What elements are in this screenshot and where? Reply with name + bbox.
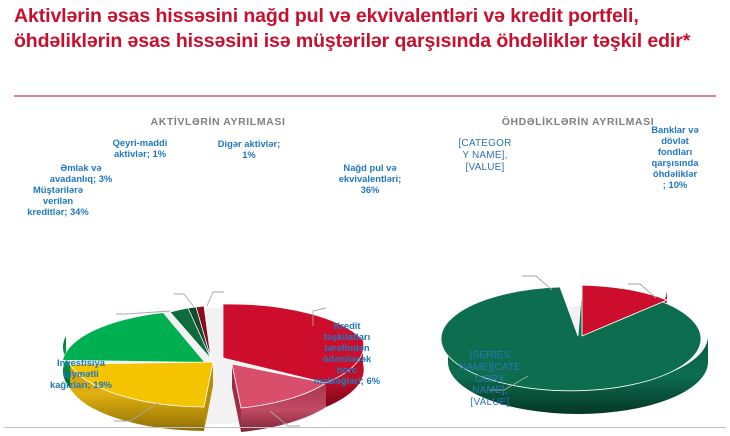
label-investment-securities: Investisiya qiymətli kağızları; 19% bbox=[28, 357, 134, 390]
chart-assets-title: AKTİVLƏRİN AYRILMASI bbox=[8, 116, 428, 128]
label-property-equipment: Əmlak və avadanlıq; 3% bbox=[24, 162, 138, 184]
label-intangible-assets: Qeyri-maddi aktivlər; 1% bbox=[92, 137, 188, 159]
title-divider bbox=[14, 95, 716, 97]
label-credit-institutions: Kredit təşkilatları tərəfindən ödəniləcə… bbox=[292, 320, 402, 387]
label-cash-equivalents: Nağd pul və ekvivalentləri; 36% bbox=[320, 162, 420, 195]
label-placeholder-series: [SERIES NAME][CATE GORY NAME], [VALUE] bbox=[444, 350, 536, 409]
page-title: Aktivlərin əsas hissəsini nağd pul və ek… bbox=[14, 4, 714, 54]
label-customer-loans: Müştərilərə verilən kreditlər; 34% bbox=[10, 184, 106, 217]
label-other-assets: Digər aktivlər; 1% bbox=[198, 138, 300, 160]
chart-assets: AKTİVLƏRİN AYRILMASI bbox=[8, 108, 428, 424]
chart-liabilities: ÖHDƏLİKLƏRİN AYRILMASI bbox=[432, 108, 724, 424]
label-placeholder-category-1: [CATEGOR Y NAME], [VALUE] bbox=[444, 138, 526, 173]
label-bank-state-funds: Banklar və dövlət fondları qarşısında öh… bbox=[632, 124, 718, 191]
footer-divider bbox=[4, 427, 726, 428]
slide-canvas: Aktivlərin əsas hissəsini nağd pul və ek… bbox=[0, 0, 730, 436]
